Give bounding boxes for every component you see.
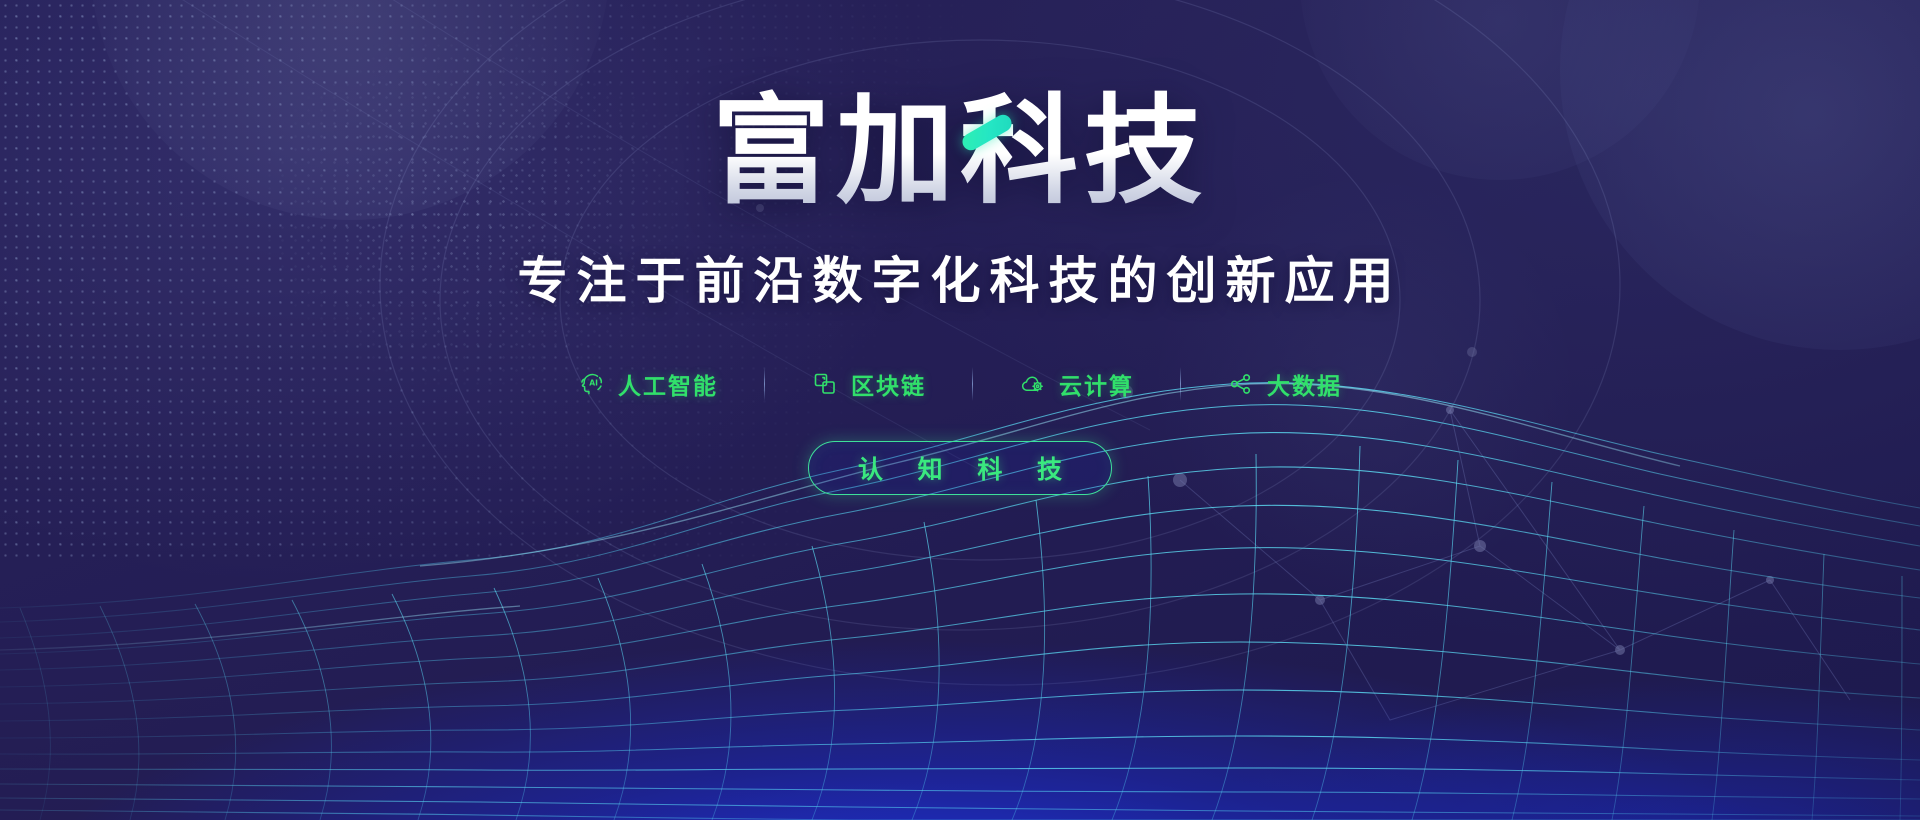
feature-tag-bigdata-label: 大数据 (1267, 367, 1342, 401)
cta-button[interactable]: 认 知 科 技 (808, 441, 1112, 495)
cta-button-label: 认 知 科 技 (845, 450, 1075, 486)
feature-tag-ai-label: 人工智能 (618, 367, 718, 401)
ai-brain-icon: AI (578, 371, 605, 398)
svg-text:AI: AI (589, 379, 598, 388)
feature-tag-blockchain[interactable]: 区块链 (765, 361, 972, 407)
feature-tag-list: AI 人工智能 区块链 (532, 361, 1388, 407)
page-title: 富加科技 (712, 88, 1208, 215)
page-subtitle: 专注于前沿数字化科技的创新应用 (518, 241, 1403, 313)
hero-content: 富加科技 专注于前沿数字化科技的创新应用 AI 人工智能 (0, 0, 1920, 820)
feature-tag-cloud-label: 云计算 (1059, 367, 1134, 401)
blockchain-blocks-icon (811, 371, 838, 398)
feature-tag-cloud[interactable]: 云计算 (973, 361, 1180, 407)
page-title-text: 富加科技 (712, 82, 1208, 220)
feature-tag-bigdata[interactable]: 大数据 (1181, 361, 1388, 407)
feature-tag-blockchain-label: 区块链 (851, 367, 926, 401)
hero-banner: 富加科技 专注于前沿数字化科技的创新应用 AI 人工智能 (0, 0, 1920, 820)
share-nodes-icon (1227, 371, 1254, 398)
cloud-gear-icon (1019, 371, 1046, 398)
feature-tag-ai[interactable]: AI 人工智能 (532, 361, 764, 407)
